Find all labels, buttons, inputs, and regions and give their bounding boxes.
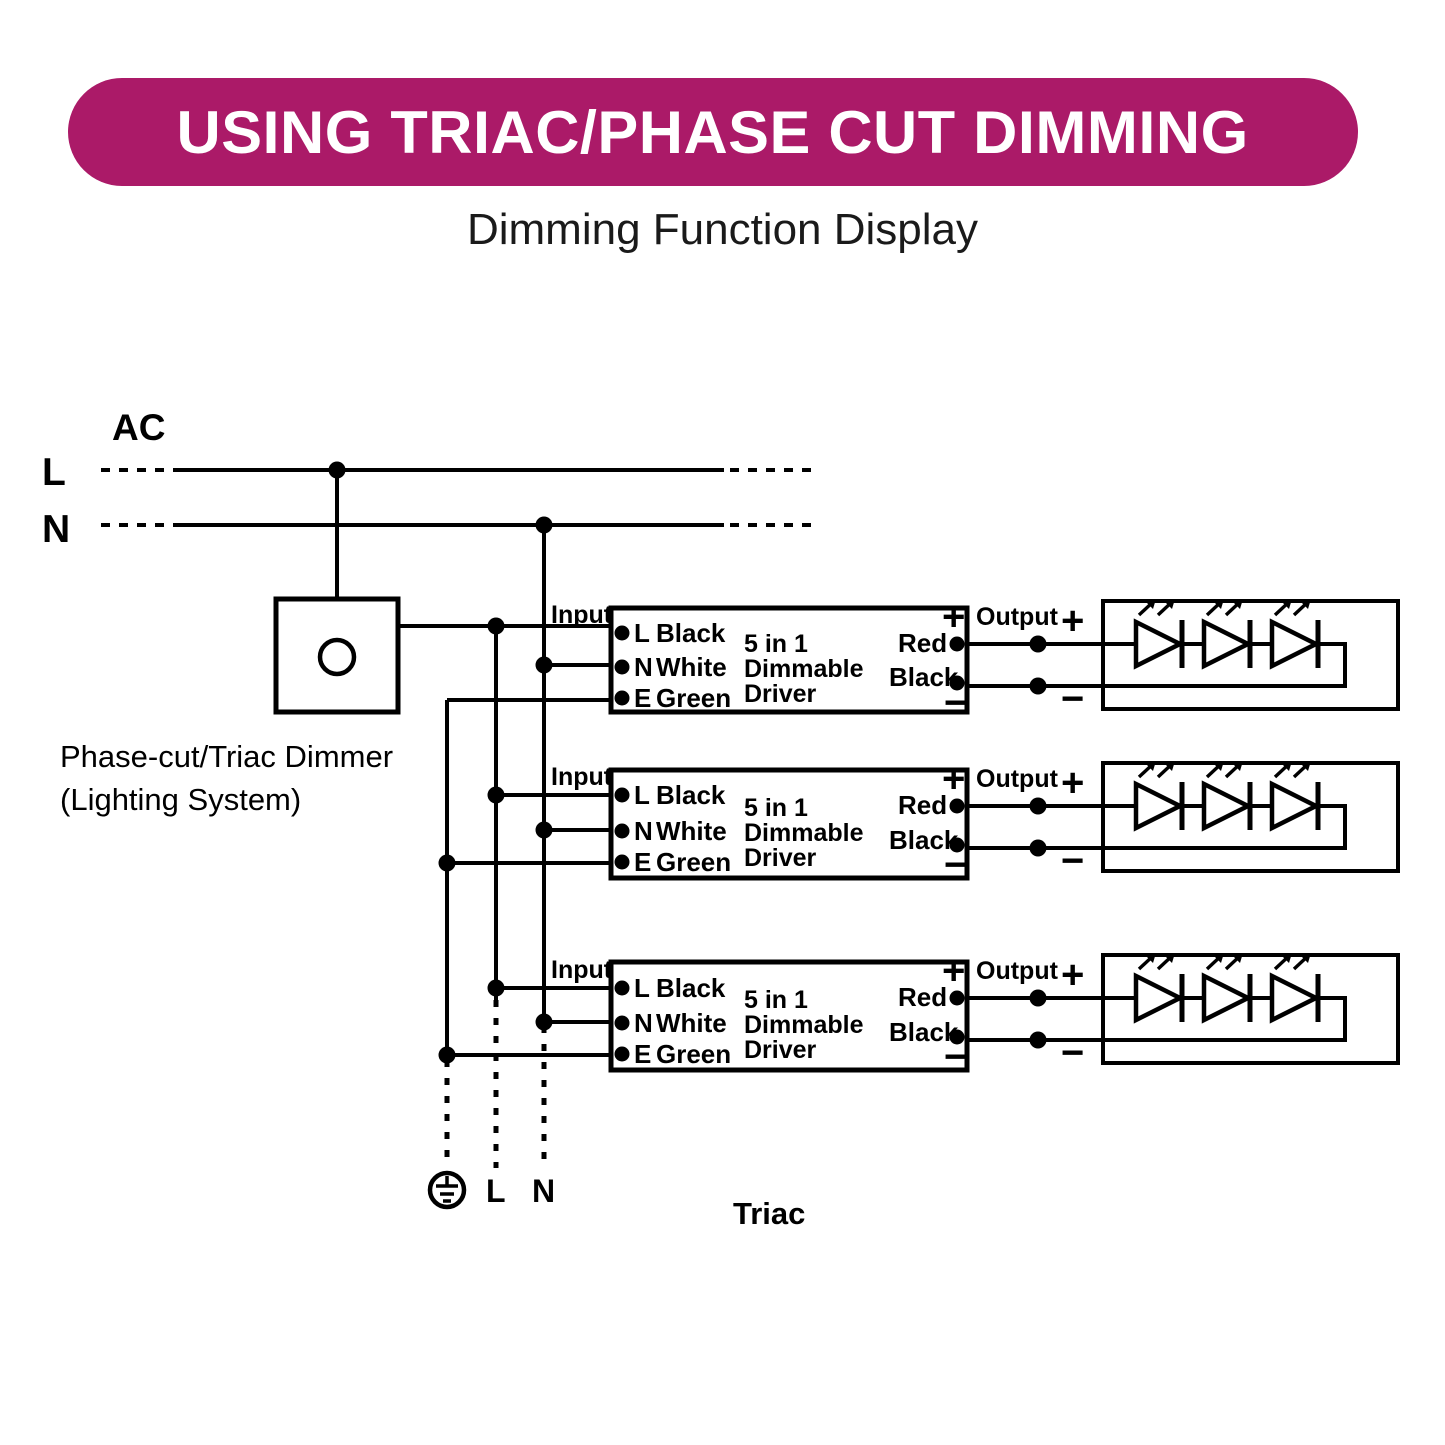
driver1-title-3: Driver (744, 680, 817, 708)
dimmer-knob-icon[interactable] (320, 640, 354, 674)
junction-dot-e-2 (439, 855, 456, 872)
driver1-out-minus-sign: − (1061, 677, 1084, 721)
bus-label-neutral: N (532, 1173, 555, 1209)
junction-dot-l-2 (488, 787, 505, 804)
driver1-plus-sign: + (942, 595, 965, 639)
driver2-out-minus-sign: − (1061, 839, 1084, 883)
driver3-terminal-n-dot (615, 1016, 630, 1031)
bottom-caption: Triac (733, 1196, 805, 1231)
driver3-out-plus-sign: + (1061, 953, 1084, 997)
driver3-out-pos-dot (1030, 990, 1047, 1007)
driver2-terminal-n-dot (615, 824, 630, 839)
driver2-input-term-n: N (634, 816, 653, 846)
diagram-page: USING TRIAC/PHASE CUT DIMMING Dimming Fu… (0, 0, 1445, 1445)
output-label-2: Output (976, 765, 1059, 793)
driver1-title-1: 5 in 1 (744, 630, 808, 658)
driver2-output-wire-red: Red (898, 790, 947, 820)
driver1-input-term-e: E (634, 683, 651, 713)
driver2-input-wire-l: Black (656, 780, 726, 810)
driver1-terminal-n-dot (615, 660, 630, 675)
driver3-input-term-n: N (634, 1008, 653, 1038)
driver2-plus-sign: + (942, 757, 965, 801)
driver1-out-neg-dot (1030, 678, 1047, 695)
driver3-title-2: Dimmable (744, 1011, 864, 1039)
driver3-out-neg-dot (1030, 1032, 1047, 1049)
driver-group-1: Input L Black N White E Green 5 in 1 Dim… (447, 595, 1398, 725)
driver1-out-plus-sign: + (1061, 599, 1084, 643)
driver2-out-pos-dot (1030, 798, 1047, 815)
input-label-2: Input (551, 763, 613, 791)
ac-label: AC (112, 407, 165, 448)
driver3-input-term-l: L (634, 973, 650, 1003)
driver-group-2: Input L Black N White E Green 5 in 1 Dim… (439, 757, 1399, 887)
dimmer-caption-line1: Phase-cut/Triac Dimmer (60, 739, 393, 774)
driver2-title-2: Dimmable (744, 819, 864, 847)
driver2-terminal-l-dot (615, 788, 630, 803)
driver2-input-wire-n: White (656, 816, 727, 846)
driver3-plus-sign: + (942, 949, 965, 993)
driver3-output-wire-red: Red (898, 982, 947, 1012)
driver1-input-term-l: L (634, 618, 650, 648)
junction-dot-l-3 (488, 980, 505, 997)
driver1-terminal-l-dot (615, 626, 630, 641)
junction-dot-n-bus (536, 517, 553, 534)
driver2-minus-sign: − (944, 843, 967, 887)
driver1-terminal-e-dot (615, 691, 630, 706)
driver3-input-wire-n: White (656, 1008, 727, 1038)
driver2-out-plus-sign: + (1061, 761, 1084, 805)
junction-dot-n-1 (536, 657, 553, 674)
driver1-minus-sign: − (944, 681, 967, 725)
driver3-terminal-e-dot (615, 1047, 630, 1062)
driver2-terminal-e-dot (615, 855, 630, 870)
dimmer-caption-line2: (Lighting System) (60, 782, 301, 817)
driver2-title-1: 5 in 1 (744, 794, 808, 822)
driver1-title-2: Dimmable (744, 655, 864, 683)
bus-label-live: L (486, 1173, 506, 1209)
wiring-diagram: AC L N Phase-cut/Triac Dimmer (Lighting … (0, 0, 1445, 1445)
output-label-1: Output (976, 603, 1059, 631)
driver2-out-neg-dot (1030, 840, 1047, 857)
driver3-minus-sign: − (944, 1035, 967, 1079)
driver2-input-wire-e: Green (656, 847, 731, 877)
driver2-input-term-l: L (634, 780, 650, 810)
driver3-title-1: 5 in 1 (744, 986, 808, 1014)
driver1-input-wire-n: White (656, 652, 727, 682)
rail-n-label: N (42, 508, 70, 551)
driver2-input-term-e: E (634, 847, 651, 877)
junction-dot-n-2 (536, 822, 553, 839)
driver3-input-term-e: E (634, 1039, 651, 1069)
output-label-3: Output (976, 957, 1059, 985)
junction-dot-l-dimmer (329, 462, 346, 479)
driver-group-3: Input L Black N White E Green 5 in 1 Dim… (439, 949, 1399, 1079)
rail-l-label: L (42, 451, 66, 494)
driver1-output-wire-red: Red (898, 628, 947, 658)
driver3-input-wire-e: Green (656, 1039, 731, 1069)
driver1-input-term-n: N (634, 652, 653, 682)
earth-ground-icon (430, 1173, 464, 1207)
driver2-title-3: Driver (744, 844, 817, 872)
driver1-input-wire-l: Black (656, 618, 726, 648)
driver1-input-wire-e: Green (656, 683, 731, 713)
input-label-3: Input (551, 956, 613, 984)
input-label-1: Input (551, 601, 613, 629)
driver3-title-3: Driver (744, 1036, 817, 1064)
driver3-terminal-l-dot (615, 981, 630, 996)
driver3-input-wire-l: Black (656, 973, 726, 1003)
driver3-out-minus-sign: − (1061, 1031, 1084, 1075)
driver1-out-pos-dot (1030, 636, 1047, 653)
